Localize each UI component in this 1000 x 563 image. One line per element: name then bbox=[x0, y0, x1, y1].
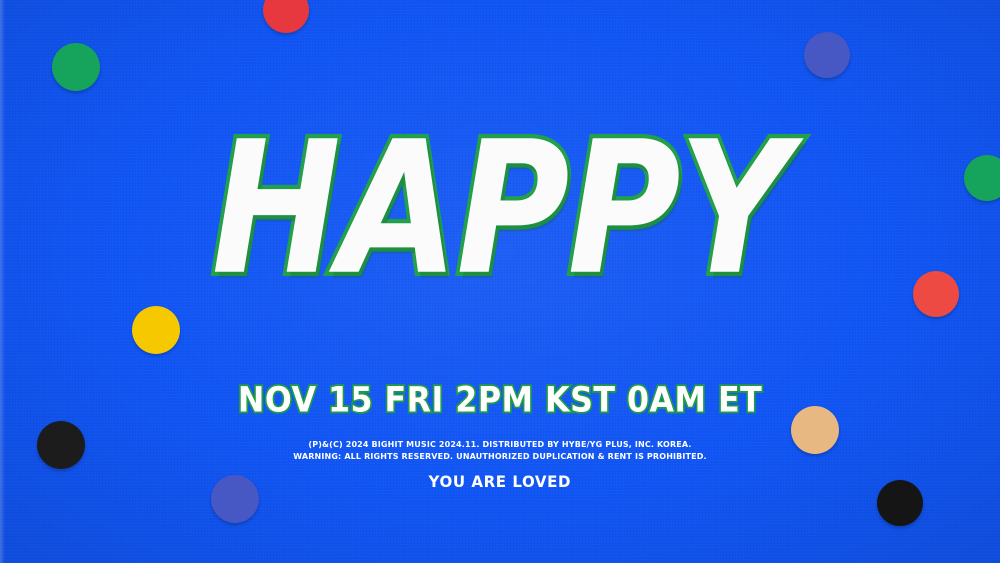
release-date-text: NOV 15 FRI 2PM KST 0AM ET bbox=[238, 379, 762, 420]
copyright-line: (P)&(C) 2024 BIGHIT MUSIC 2024.11. DISTR… bbox=[0, 439, 1000, 451]
page-title: HAPPY bbox=[212, 118, 789, 301]
happy-release-poster: HAPPY NOV 15 FRI 2PM KST 0AM ET (P)&(C) … bbox=[0, 0, 1000, 563]
tagline-block: YOU ARE LOVED bbox=[0, 472, 1000, 492]
title-block: HAPPY bbox=[0, 118, 1000, 268]
tagline-text: YOU ARE LOVED bbox=[429, 472, 571, 491]
legal-notice: (P)&(C) 2024 BIGHIT MUSIC 2024.11. DISTR… bbox=[0, 439, 1000, 464]
poster-content: HAPPY NOV 15 FRI 2PM KST 0AM ET (P)&(C) … bbox=[0, 0, 1000, 563]
warning-line: WARNING: ALL RIGHTS RESERVED. UNAUTHORIZ… bbox=[0, 451, 1000, 463]
release-date-block: NOV 15 FRI 2PM KST 0AM ET bbox=[0, 380, 1000, 419]
